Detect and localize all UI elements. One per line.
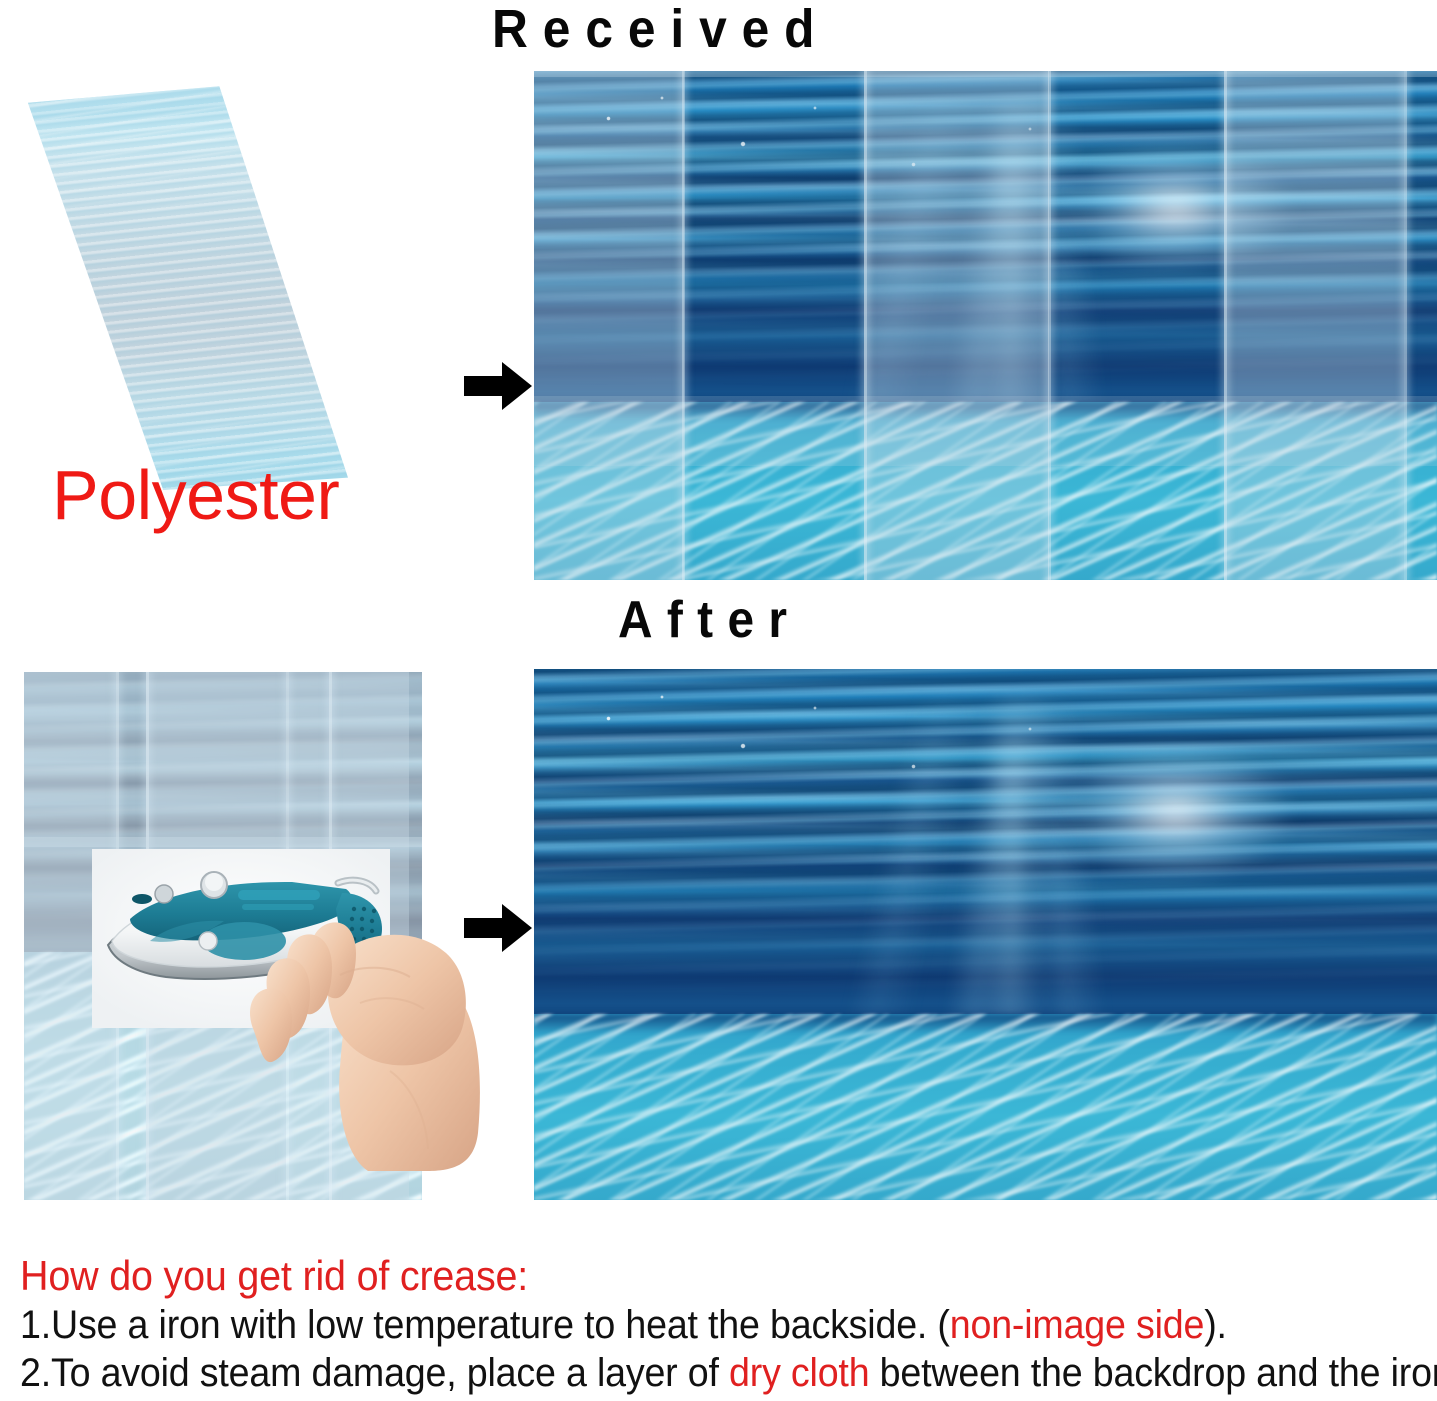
instruction-line-1-prefix: 1.Use a iron with low temperature to hea… xyxy=(20,1303,950,1347)
right-arrow-icon xyxy=(462,358,534,414)
sea-floor xyxy=(534,402,1437,580)
infographic-canvas: Received Polyester xyxy=(0,0,1437,1401)
underwater-scene xyxy=(534,71,1437,580)
caustic-light-pattern xyxy=(534,1014,1437,1200)
polyester-material-label: Polyester xyxy=(52,456,339,534)
after-backdrop-photo xyxy=(534,669,1437,1200)
underwater-scene xyxy=(534,669,1437,1200)
instruction-line-1-highlight: non-image side xyxy=(950,1303,1204,1347)
received-backdrop-photo xyxy=(534,71,1437,580)
instructions-block: How do you get rid of crease: 1.Use a ir… xyxy=(20,1252,1430,1396)
instruction-line-2: 2.To avoid steam damage, place a layer o… xyxy=(20,1350,1345,1396)
section-title-received: Received xyxy=(492,0,829,60)
section-title-after: After xyxy=(618,590,801,650)
swatch-wave-texture xyxy=(18,78,348,490)
right-arrow-icon xyxy=(462,900,534,956)
iron-demo-card xyxy=(92,849,390,1028)
instruction-line-2-highlight: dry cloth xyxy=(729,1351,869,1395)
sea-floor xyxy=(534,1014,1437,1200)
instruction-line-1: 1.Use a iron with low temperature to hea… xyxy=(20,1302,1345,1348)
instructions-heading: How do you get rid of crease: xyxy=(20,1252,1345,1300)
polyester-fabric-swatch xyxy=(18,78,348,490)
instruction-line-2-prefix: 2.To avoid steam damage, place a layer o… xyxy=(20,1351,729,1395)
steam-iron-icon xyxy=(92,849,390,1028)
instruction-line-2-suffix: between the backdrop and the iron. xyxy=(869,1351,1437,1395)
instruction-line-1-suffix: ). xyxy=(1204,1303,1227,1347)
caustic-light-pattern xyxy=(534,402,1437,580)
